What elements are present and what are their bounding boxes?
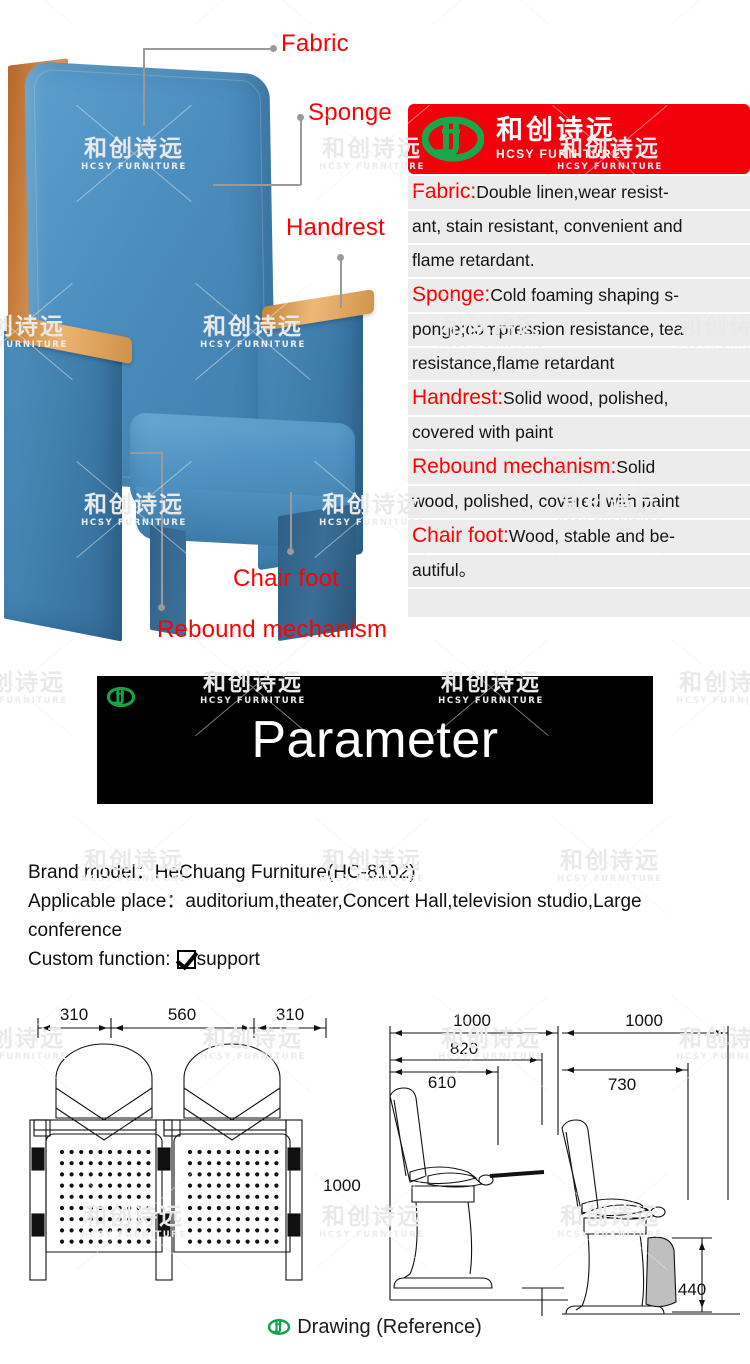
spec-row-key: Sponge: [412,283,490,306]
chair-foot-leader-dot [287,548,294,555]
sponge-leader-dot [297,114,304,121]
hcsy-monogram-icon [422,116,484,162]
spec-row-value: wood, polished, covered with paint [412,491,680,511]
handrest-leader-dot [337,254,344,261]
watermark-cn: 和创诗远 [0,672,90,695]
spec-row: resistance,flame retardant [408,348,750,380]
spec-row-value: Solid [616,457,655,477]
side-dim-440: 440 [678,1280,706,1299]
rebound-leader-horizontal [130,452,162,454]
spec-row-key: Handrest: [412,386,503,409]
chair-foot-leader-vertical [290,492,292,554]
side-dim-610: 610 [428,1073,456,1092]
front-dim-310-left: 310 [60,1005,88,1024]
spec-panel: 和创诗远 HCSY FURNITURE Fabric:Double linen,… [408,104,750,617]
watermark: 和创诗远HCSY FURNITURE [0,672,90,706]
callout-chair-foot: Chair foot [233,565,339,593]
spec-row: flame retardant. [408,245,750,277]
brand-model-label: Brand model： [28,862,155,883]
brand-name-cn: 和创诗远 [496,117,621,145]
spec-row-value: covered with paint [412,422,553,442]
custom-function-line: Custom function:support [28,945,718,974]
spec-row-key: Fabric: [412,180,476,203]
brand-logo-bar: 和创诗远 HCSY FURNITURE [408,104,750,174]
fabric-leader-horizontal [143,48,273,50]
callout-fabric: Fabric [281,30,349,58]
side-dim-730: 730 [608,1075,636,1094]
chair-product-photo [0,40,400,620]
chair-left-side-panel [4,329,122,642]
side-dim-1000-right: 1000 [625,1011,663,1030]
parameter-banner: Parameter [97,676,653,804]
spec-row: ant, stain resistant, convenient and [408,211,750,243]
custom-function-label: Custom function: [28,949,171,970]
spec-row: Sponge:Cold foaming shaping s- [408,279,750,312]
custom-function-value: support [197,949,260,970]
spec-row-value: resistance,flame retardant [412,353,614,373]
applicable-place-line: Applicable place：auditorium,theater,Conc… [28,887,718,945]
spec-row: Fabric:Double linen,wear resist- [408,176,750,209]
side-dim-820: 820 [450,1039,478,1058]
brand-model-value: HeChuang Furniture(HC-8102) [155,862,416,883]
drawing-caption-text: Drawing (Reference) [297,1316,482,1338]
sponge-leader-vertical [300,118,302,185]
rebound-leader-dot [158,604,165,611]
spec-row-value: ponge;compression resistance, tear [412,319,689,339]
parameter-text-block: Brand model：HeChuang Furniture(HC-8102) … [28,858,718,974]
custom-function-checkbox[interactable] [177,950,196,969]
side-dim-overall-height: 1000 [323,1176,361,1196]
handrest-leader-vertical [340,258,342,308]
front-dim-560: 560 [168,1005,196,1024]
side-dim-1000-left: 1000 [453,1011,491,1030]
spec-row: Chair foot:Wood, stable and be- [408,520,750,553]
spec-row-key: Rebound mechanism: [412,455,616,478]
spec-row-value: Double linen,wear resist- [476,182,669,202]
watermark-en: HCSY FURNITURE [0,697,90,706]
drawing-caption: Drawing (Reference) [0,1316,750,1339]
spec-row: autiful。 [408,555,750,587]
fabric-leader-dot [270,45,277,52]
fabric-leader-vertical [143,48,145,126]
spec-row: Rebound mechanism:Solid [408,451,750,484]
hcsy-monogram-icon-banner [107,686,135,708]
callout-rebound-mechanism: Rebound mechanism [157,616,387,644]
spec-row [408,589,750,617]
spec-row: wood, polished, covered with paint [408,486,750,518]
spec-row: ponge;compression resistance, tear [408,314,750,346]
watermark: 和创诗远HCSY FURNITURE [654,672,750,706]
spec-row: covered with paint [408,417,750,449]
sponge-leader-horizontal [213,184,301,186]
callout-sponge: Sponge [308,99,392,127]
callout-handrest: Handrest [286,214,385,242]
rebound-leader-vertical [161,452,163,607]
spec-row-value: ant, stain resistant, convenient and [412,216,682,236]
front-view-drawing: 310 560 310 [16,1000,346,1300]
hcsy-monogram-icon-caption [268,1318,290,1336]
front-dim-310-right: 310 [276,1005,304,1024]
brand-name-en: HCSY FURNITURE [496,147,621,161]
spec-row: Handrest:Solid wood, polished, [408,382,750,415]
spec-row-value: Solid wood, polished, [503,388,668,408]
parameter-banner-title: Parameter [97,710,653,770]
spec-row-value: Wood, stable and be- [509,526,675,546]
watermark-en: HCSY FURNITURE [654,697,750,706]
spec-row-list: Fabric:Double linen,wear resist-ant, sta… [408,176,750,617]
applicable-place-label: Applicable place： [28,891,185,912]
spec-row-value: autiful。 [412,560,476,580]
spec-row-key: Chair foot: [412,524,509,547]
watermark-cn: 和创诗远 [654,672,750,695]
spec-row-value: Cold foaming shaping s- [490,285,679,305]
side-view-drawing: 1000 820 610 1000 730 440 [372,1000,740,1320]
spec-row-value: flame retardant. [412,250,535,270]
brand-model-line: Brand model：HeChuang Furniture(HC-8102) [28,858,718,887]
